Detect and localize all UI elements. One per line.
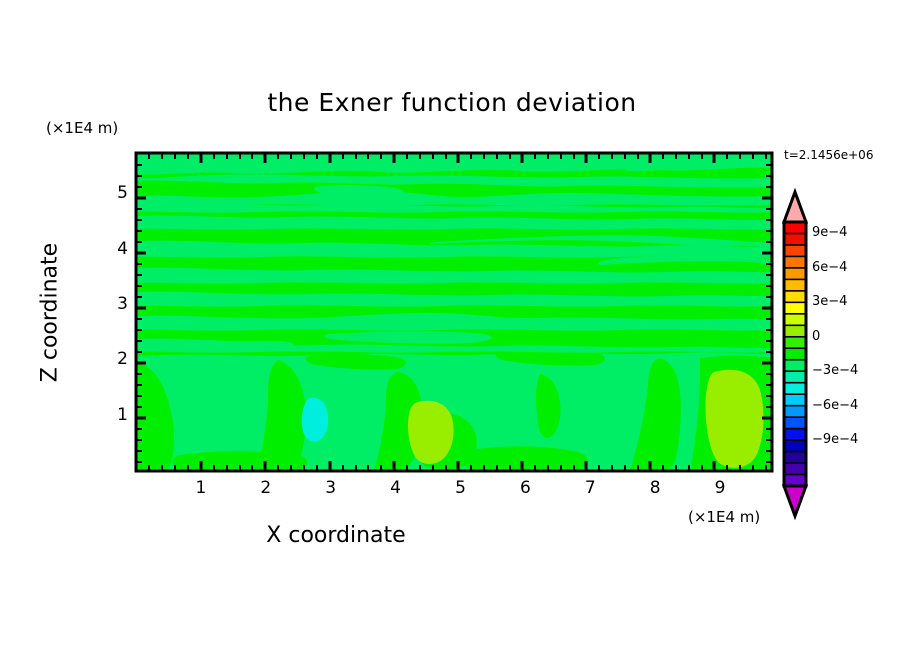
colorbar-band bbox=[784, 394, 806, 406]
colorbar-band bbox=[784, 429, 806, 441]
colorbar-tick-label: 6e−4 bbox=[812, 260, 847, 275]
colorbar-bands bbox=[784, 222, 806, 487]
x-tick-label: 5 bbox=[445, 478, 475, 498]
colorbar-band bbox=[784, 406, 806, 418]
colorbar-band bbox=[784, 417, 806, 429]
timestamp-label: t=2.1456e+06 bbox=[784, 148, 873, 162]
colorbar-band bbox=[784, 452, 806, 464]
colorbar-band bbox=[784, 325, 806, 337]
colorbar-band bbox=[784, 348, 806, 360]
x-tick-label: 4 bbox=[381, 478, 411, 498]
colorbar-tick-label: −6e−4 bbox=[812, 398, 858, 413]
colorbar-band bbox=[784, 245, 806, 257]
colorbar-band bbox=[784, 279, 806, 291]
colorbar-tick-label: 3e−4 bbox=[812, 294, 847, 309]
y-tick-label: 5 bbox=[98, 183, 128, 203]
colorbar[interactable] bbox=[784, 192, 806, 516]
colorbar-band bbox=[784, 463, 806, 475]
x-tick-label: 8 bbox=[640, 478, 670, 498]
colorbar-band bbox=[784, 268, 806, 280]
colorbar-tick-label: 0 bbox=[812, 329, 820, 344]
colorbar-tick-label: 9e−4 bbox=[812, 225, 847, 240]
colorbar-band bbox=[784, 360, 806, 372]
x-tick-label: 7 bbox=[575, 478, 605, 498]
x-tick-label: 9 bbox=[705, 478, 735, 498]
x-tick-label: 6 bbox=[510, 478, 540, 498]
y-tick-label: 2 bbox=[98, 349, 128, 369]
x-tick-label: 3 bbox=[316, 478, 346, 498]
colorbar-band bbox=[784, 314, 806, 326]
colorbar-band bbox=[784, 383, 806, 395]
contour-field bbox=[136, 153, 772, 471]
colorbar-under-arrow bbox=[784, 486, 806, 516]
colorbar-band bbox=[784, 222, 806, 234]
colorbar-band bbox=[784, 302, 806, 314]
x-tick-label: 1 bbox=[186, 478, 216, 498]
x-tick-label: 2 bbox=[251, 478, 281, 498]
colorbar-band bbox=[784, 440, 806, 452]
colorbar-band bbox=[784, 371, 806, 383]
colorbar-tick-label: −3e−4 bbox=[812, 363, 858, 378]
colorbar-over-arrow bbox=[784, 192, 806, 222]
y-tick-label: 1 bbox=[98, 405, 128, 425]
y-tick-label: 4 bbox=[98, 239, 128, 259]
colorbar-band bbox=[784, 337, 806, 349]
contour-plot bbox=[0, 0, 904, 654]
colorbar-band bbox=[784, 256, 806, 268]
colorbar-band bbox=[784, 233, 806, 245]
colorbar-band bbox=[784, 291, 806, 303]
colorbar-tick-label: −9e−4 bbox=[812, 432, 858, 447]
y-tick-label: 3 bbox=[98, 294, 128, 314]
